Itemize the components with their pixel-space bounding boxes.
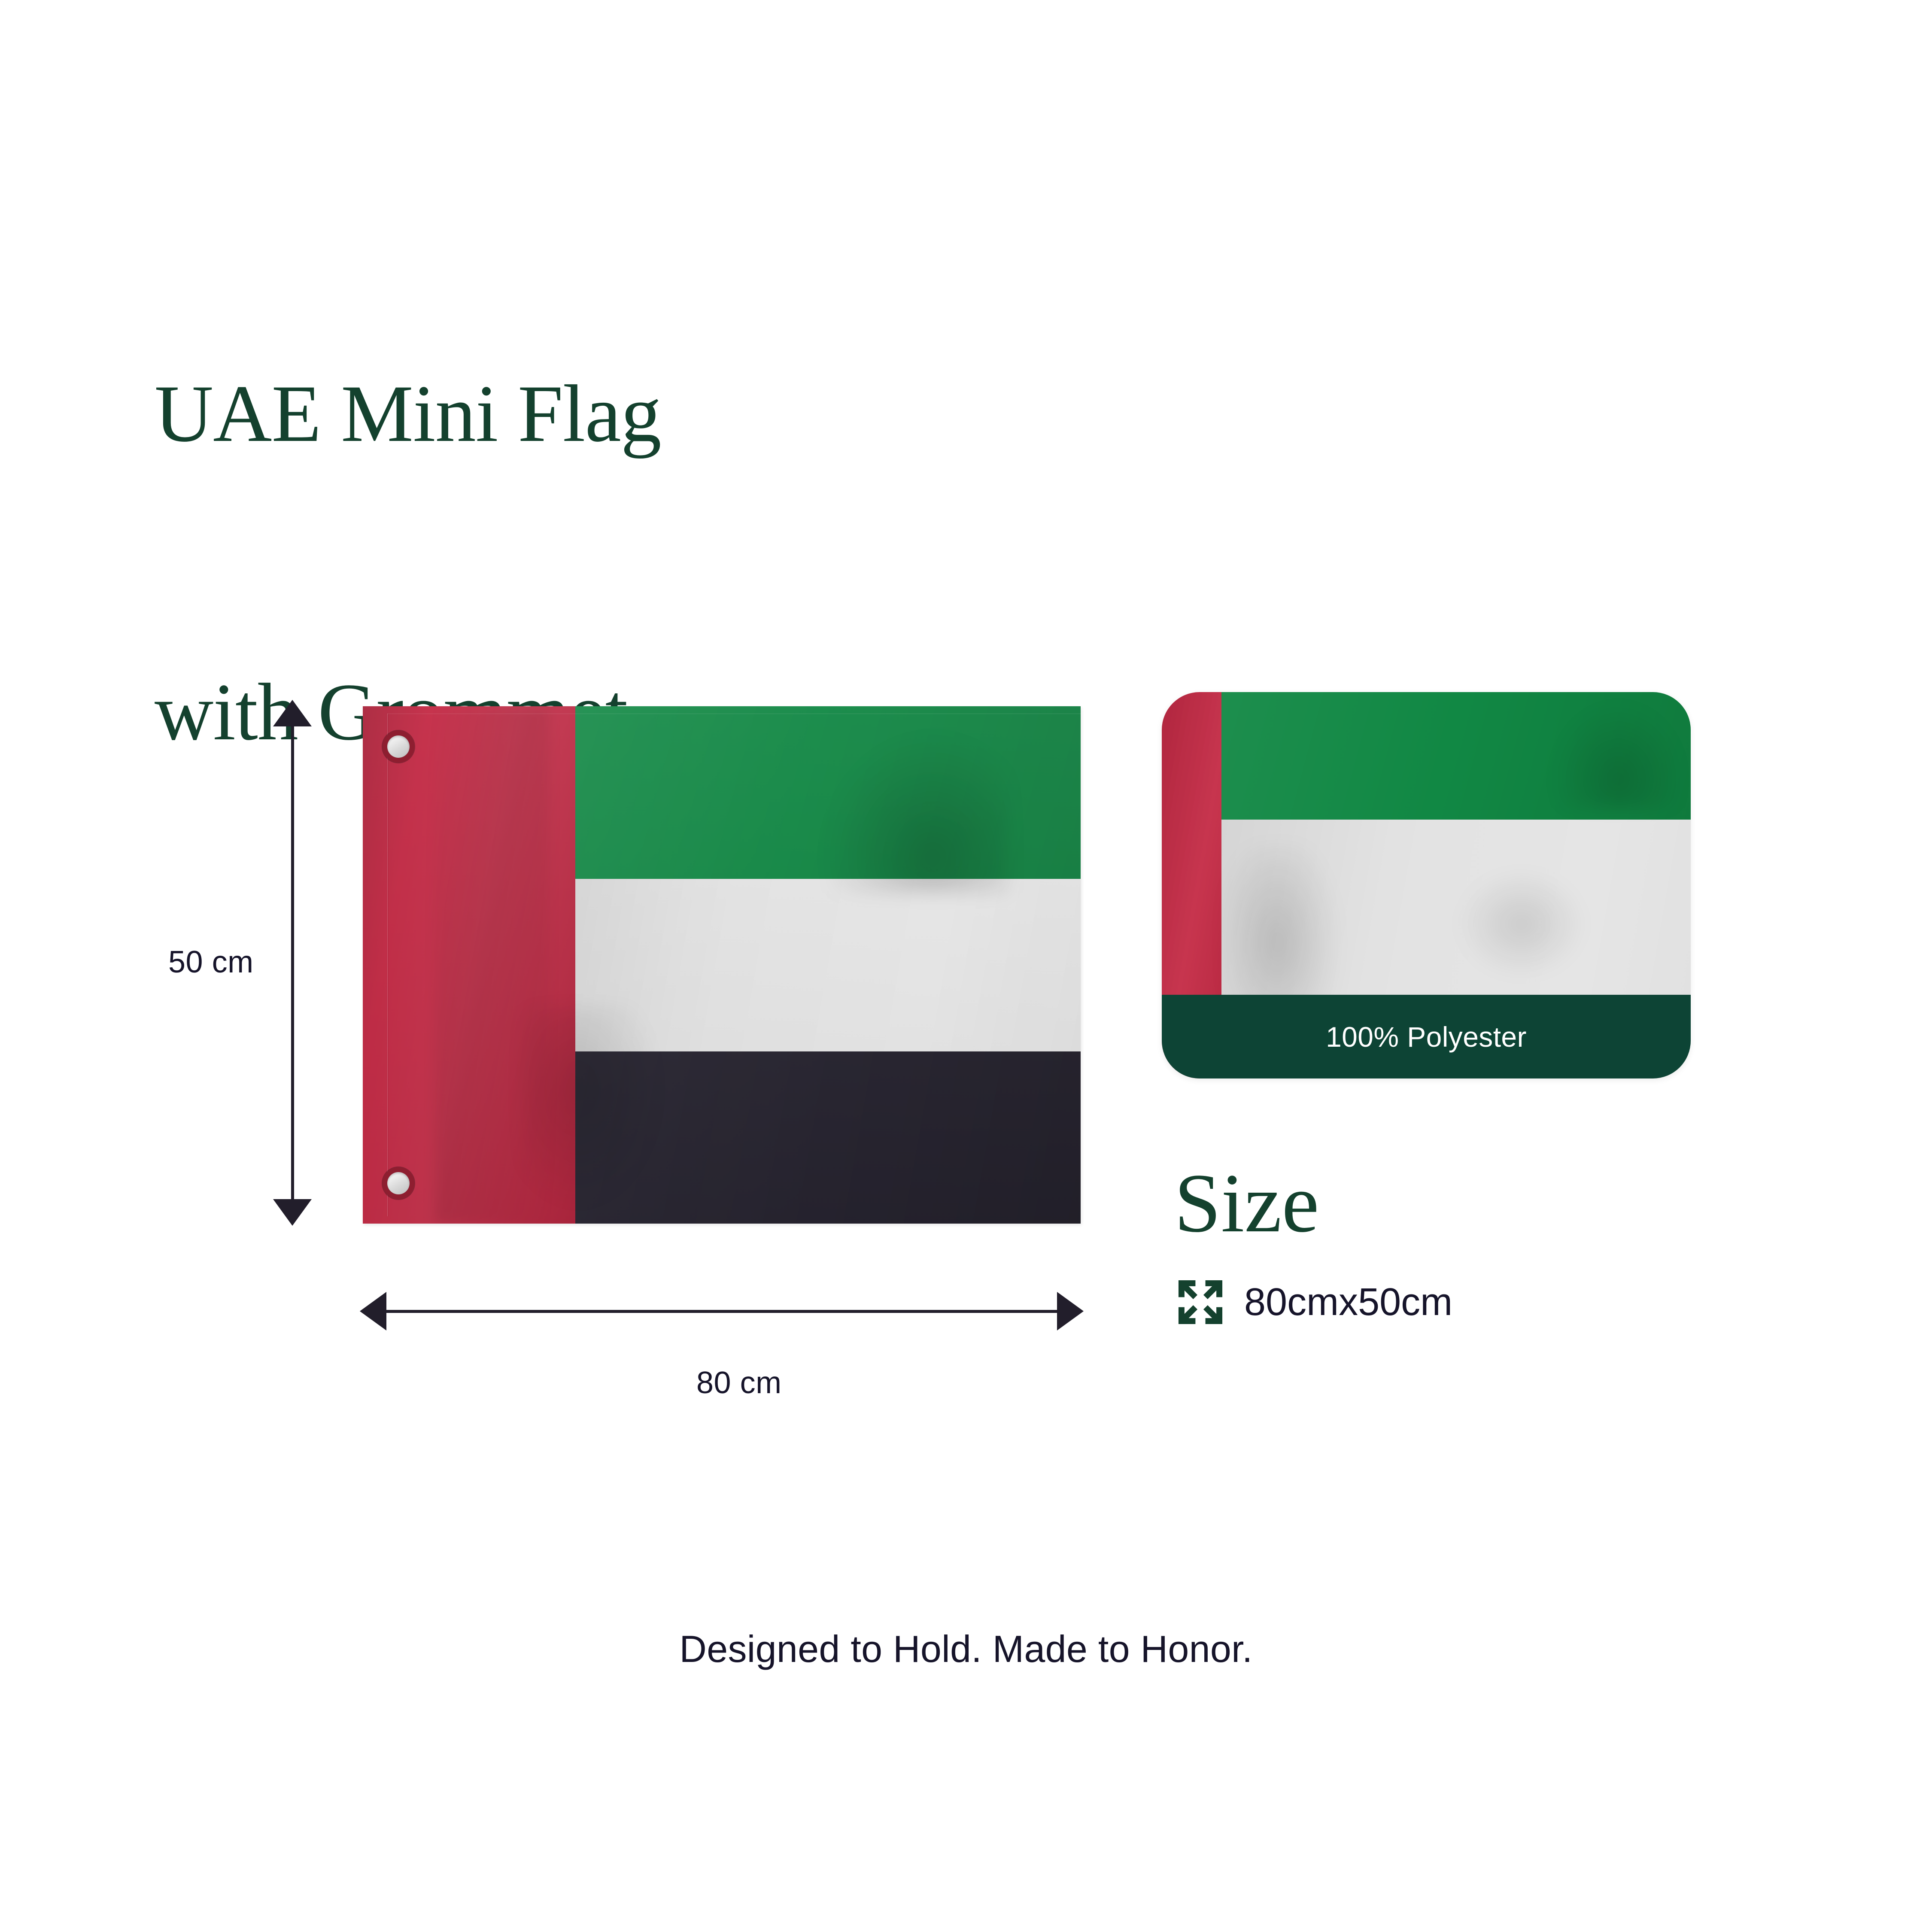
flag-black-stripe (575, 1051, 1081, 1224)
flag-red-hoist-band (363, 706, 575, 1224)
fabric-fold-shadow (1453, 866, 1590, 982)
hem-seam-line (387, 714, 388, 1216)
width-dimension-label: 80 cm (696, 1365, 782, 1400)
product-flag-image (363, 706, 1081, 1224)
resize-expand-icon (1176, 1277, 1225, 1327)
width-dimension-arrow (360, 1307, 1084, 1315)
arrow-shaft (384, 1310, 1060, 1313)
arrow-shaft (291, 724, 294, 1202)
height-dimension-label: 50 cm (168, 945, 254, 980)
material-card: 100% Polyester (1162, 692, 1691, 1078)
fabric-fold-shadow (1543, 692, 1680, 808)
size-value: 80cmx50cm (1244, 1280, 1452, 1324)
size-row: 80cmx50cm (1176, 1277, 1452, 1327)
material-banner: 100% Polyester (1162, 995, 1691, 1078)
infographic-canvas: UAE Mini Flag with Grommet 50 cm (0, 0, 1932, 1932)
height-dimension-arrow (289, 700, 296, 1226)
material-banner-label: 100% Polyester (1326, 1021, 1527, 1053)
flag-stripe-group (575, 706, 1081, 1224)
page-title-line-1: UAE Mini Flag (155, 365, 661, 464)
flag-white-stripe (575, 879, 1081, 1051)
flag-green-stripe (575, 706, 1081, 879)
tagline: Designed to Hold. Made to Honor. (0, 1627, 1932, 1671)
grommet-icon (387, 735, 410, 758)
hem-seam-line-top (387, 714, 1081, 714)
arrow-left-icon (360, 1292, 386, 1331)
size-heading: Size (1174, 1161, 1319, 1245)
arrow-up-icon (273, 700, 312, 726)
grommet-icon (387, 1172, 410, 1194)
flag-photo (363, 706, 1081, 1224)
arrow-down-icon (273, 1199, 312, 1226)
arrow-right-icon (1057, 1292, 1084, 1331)
